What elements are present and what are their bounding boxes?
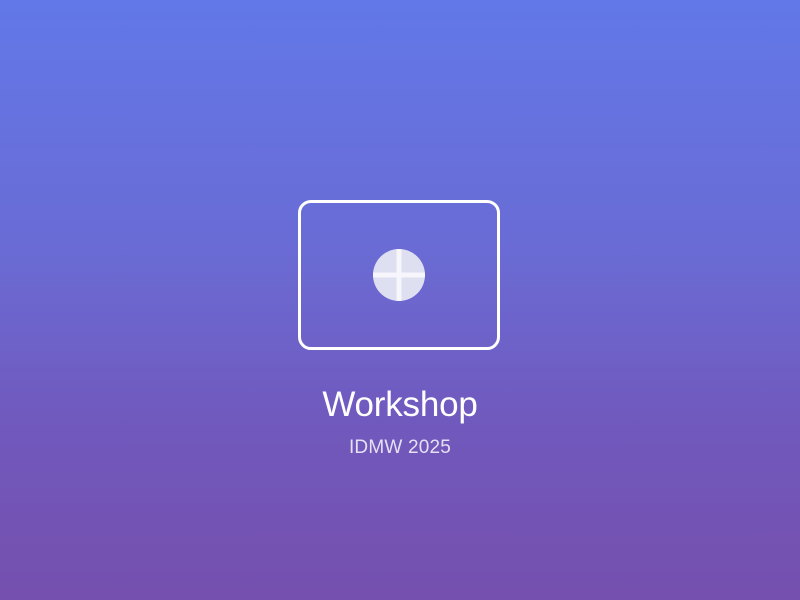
slide-subtitle: IDMW 2025 [0, 426, 800, 460]
cross-horizontal-bar [373, 273, 425, 278]
slide-text-block: Workshop IDMW 2025 [0, 384, 800, 460]
media-placeholder-frame[interactable] [298, 200, 500, 350]
image-placeholder-icon [373, 249, 425, 301]
slide-title: Workshop [0, 384, 800, 426]
presentation-slide: Workshop IDMW 2025 [0, 0, 800, 600]
